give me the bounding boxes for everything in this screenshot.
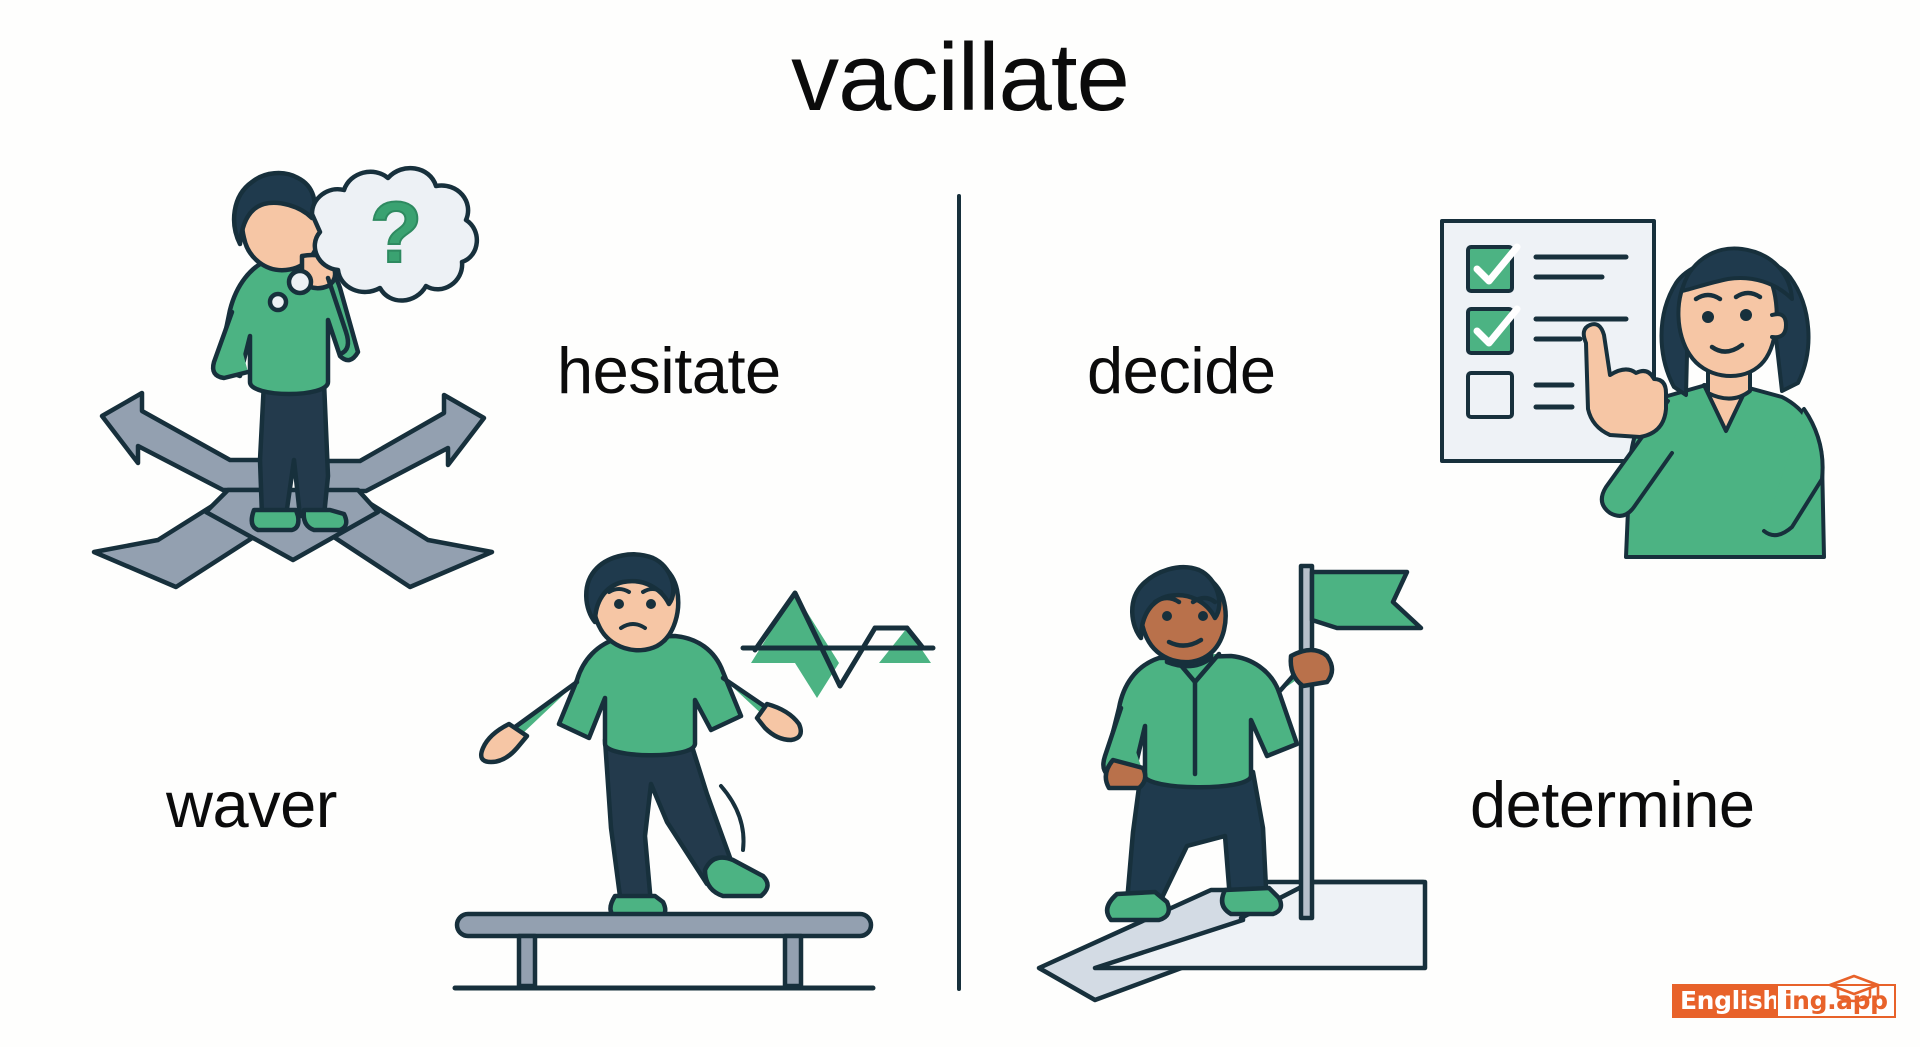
label-decide: decide: [1087, 338, 1276, 403]
thought-bubble-small-1: [289, 271, 311, 293]
checkbox-3-unchecked: [1468, 373, 1512, 417]
center-divider: [957, 194, 961, 991]
crossroads-svg: ?: [78, 160, 508, 590]
label-determine: determine: [1470, 772, 1755, 837]
balance-svg: [455, 548, 945, 1013]
flag-shoe-right: [1222, 888, 1281, 914]
thought-bubble-small-2: [270, 294, 286, 310]
illustration-person-at-crossroads: ?: [78, 160, 508, 590]
illustration-person-planting-flag: [1035, 560, 1475, 1010]
watermark-brand-primary: English: [1672, 984, 1787, 1018]
illustration-person-balancing: [455, 548, 945, 1013]
checklist-svg: [1420, 195, 1845, 575]
flag-hand-right: [1291, 650, 1332, 686]
balance-beam-icon: [455, 914, 873, 988]
poster-canvas: vacillate hesitate decide waver determin…: [0, 0, 1920, 1047]
balance-hand-right: [757, 704, 801, 740]
label-hesitate: hesitate: [557, 338, 781, 403]
label-waver: waver: [166, 772, 337, 837]
balance-shoe-right: [705, 858, 768, 896]
brand-watermark[interactable]: English ing.app: [1672, 978, 1880, 1024]
crossroads-shoe-left: [252, 510, 299, 530]
flag-cloth: [1312, 572, 1421, 628]
crossroads-shoe-right: [304, 510, 347, 530]
flag-svg: [1035, 560, 1475, 1010]
page-title: vacillate: [0, 24, 1920, 132]
graduation-cap-icon: [1826, 972, 1882, 1006]
balance-hand-left: [481, 724, 527, 762]
zigzag-wave-icon: [743, 593, 933, 698]
question-mark-glyph: ?: [370, 185, 423, 281]
balance-tshirt: [559, 636, 741, 755]
illustration-woman-with-checklist: [1420, 195, 1845, 575]
flag-shoe-left: [1107, 892, 1169, 920]
